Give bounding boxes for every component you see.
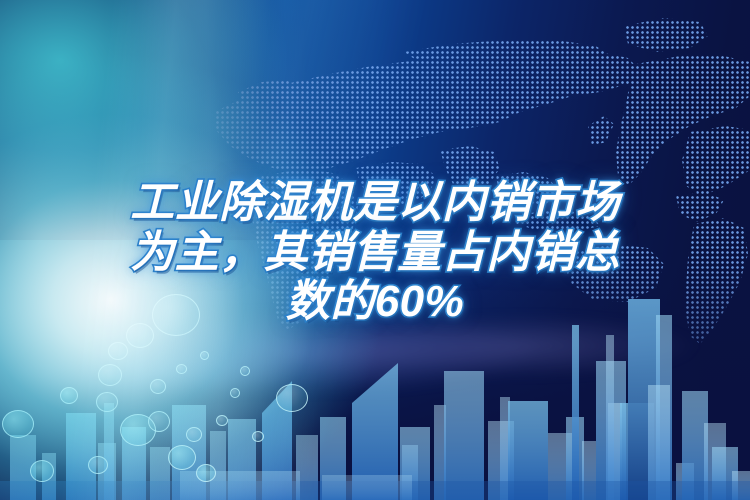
headline: 工业除湿机是以内销市场 为主，其销售量占内销总 数的60%: [0, 178, 750, 327]
headline-line-1: 工业除湿机是以内销市场: [0, 178, 750, 228]
promo-banner: 工业除湿机是以内销市场 为主，其销售量占内销总 数的60%: [0, 0, 750, 500]
headline-line-3: 数的60%: [0, 277, 750, 327]
headline-line-2: 为主，其销售量占内销总: [0, 228, 750, 278]
